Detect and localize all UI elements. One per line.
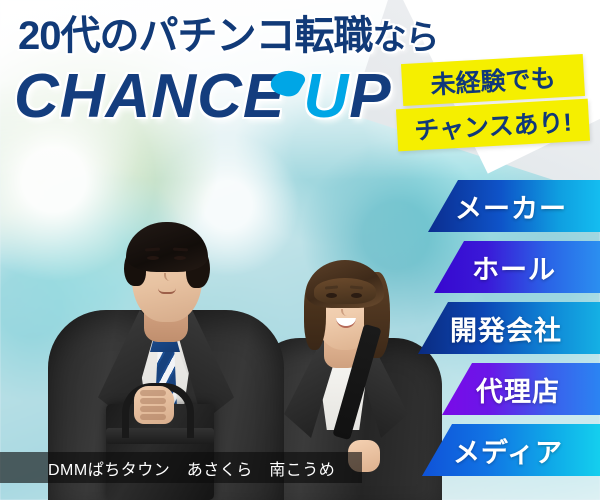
tag-label: ホール <box>472 248 556 287</box>
badge-label: 未経験でも <box>430 59 557 102</box>
tag-label: 代理店 <box>476 370 560 409</box>
tag-label: 開発会社 <box>450 309 562 348</box>
tag-label: メーカー <box>455 187 567 226</box>
man-finger <box>140 390 166 396</box>
man-hair-top <box>126 222 208 272</box>
headline-main: 20代のパチンコ転職 <box>18 14 373 58</box>
tag-development-company[interactable]: 開発会社 <box>418 302 600 354</box>
man-eye-left <box>147 256 159 260</box>
woman-bangs <box>314 278 376 304</box>
tag-media[interactable]: メディア <box>422 424 600 476</box>
man-eye-right <box>174 256 186 260</box>
badge-label: チャンスあり! <box>413 103 572 148</box>
tag-label: メディア <box>453 431 563 470</box>
logo-part-p: P <box>349 62 391 131</box>
woman-eye-left <box>326 293 337 298</box>
headline: 20代のパチンコ転職なら <box>18 16 439 56</box>
man-finger <box>140 406 166 412</box>
logo-chance-up: CHANCE UP <box>14 66 392 128</box>
recruitment-banner: 20代のパチンコ転職なら CHANCE UP 未経験でも チャンスあり! メーカ… <box>0 0 600 500</box>
man-finger <box>140 398 166 404</box>
tag-maker[interactable]: メーカー <box>428 180 600 232</box>
woman-eye-right <box>351 293 362 298</box>
logo-part-u: U <box>303 62 349 131</box>
man-finger <box>140 414 166 420</box>
credit-text: DMMぱちタウン あさくら 南こうめ <box>0 456 335 480</box>
headline-suffix: なら <box>373 19 439 57</box>
logo-part-chance: CHANCE <box>14 62 285 131</box>
photo-businessman <box>48 160 284 500</box>
credit-bar: DMMぱちタウン あさくら 南こうめ <box>0 452 362 483</box>
